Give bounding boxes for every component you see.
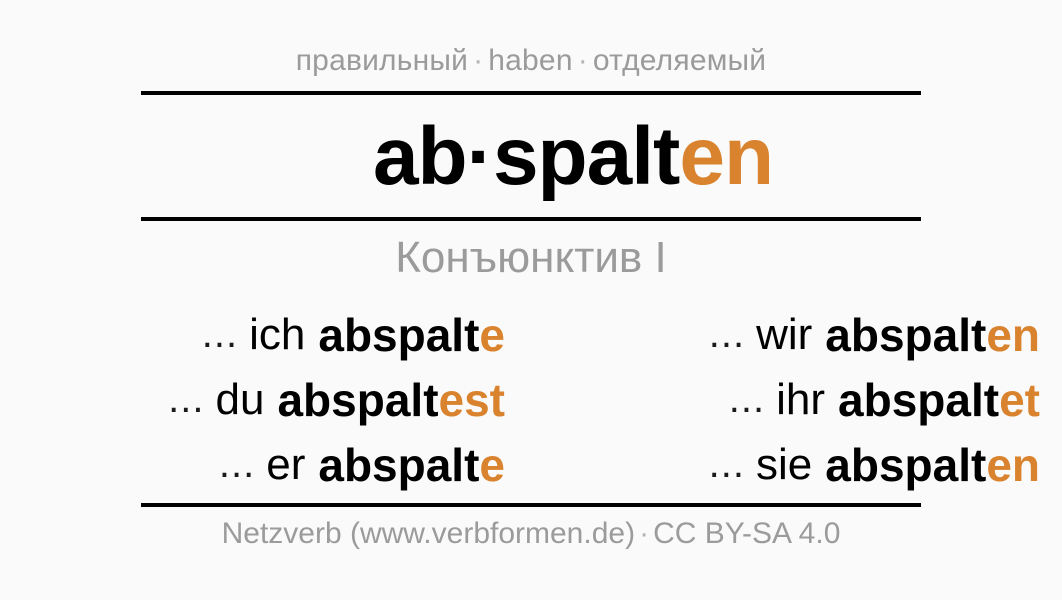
divider-bottom	[141, 503, 921, 507]
verb-regularity-label: правильный	[296, 44, 468, 77]
pronoun-label: du	[216, 375, 265, 425]
verb-auxiliary-label: haben	[488, 44, 572, 77]
verb-stem: abspalt	[277, 373, 438, 427]
verb-stem: abspalt	[318, 438, 479, 492]
conjugation-row: ...erabspalte	[0, 432, 527, 497]
footer-license: CC BY-SA 4.0	[653, 517, 840, 550]
meta-separator-2: ·	[573, 44, 593, 77]
conjugation-row: ...ihrabspaltet	[535, 367, 1062, 432]
verb-stem: abspalt	[838, 373, 999, 427]
pronoun-label: ich	[249, 310, 305, 360]
conjugation-row: ...ichabspalte	[0, 302, 527, 367]
verb-ending: e	[479, 438, 505, 492]
leading-dots: ...	[729, 377, 765, 422]
meta-separator-1: ·	[468, 44, 488, 77]
footer-credit: Netzverb (www.verbformen.de)·CC BY-SA 4.…	[0, 517, 1062, 551]
verb-ending: est	[439, 373, 505, 427]
divider-middle	[141, 217, 921, 221]
divider-top	[141, 91, 921, 95]
verb-ending: e	[479, 308, 505, 362]
verb-conjugation-card: правильный·haben·отделяемый ab·spalten К…	[0, 0, 1062, 600]
conjugation-table: ...ichabspalte ...wirabspalten ...duabsp…	[0, 302, 1062, 497]
verb-title-ending: en	[679, 111, 773, 202]
german-flag-icon	[289, 126, 355, 192]
leading-dots: ...	[709, 442, 745, 487]
pronoun-label: wir	[756, 310, 812, 360]
verb-stem: abspalt	[318, 308, 479, 362]
verb-ending: en	[986, 438, 1040, 492]
conjugation-row: ...duabspaltest	[0, 367, 527, 432]
verb-attributes-line: правильный·haben·отделяемый	[0, 44, 1062, 78]
page-title: ab·spalten	[373, 116, 773, 198]
leading-dots: ...	[709, 312, 745, 357]
verb-title-row: ab·spalten	[0, 108, 1062, 206]
tense-subtitle: Конъюнктив I	[0, 235, 1062, 281]
verb-separability-label: отделяемый	[593, 44, 766, 77]
verb-stem: abspalt	[825, 308, 986, 362]
verb-ending: en	[986, 308, 1040, 362]
leading-dots: ...	[202, 312, 238, 357]
leading-dots: ...	[168, 377, 204, 422]
verb-ending: et	[999, 373, 1040, 427]
pronoun-label: sie	[756, 440, 812, 490]
conjugation-row: ...wirabspalten	[535, 302, 1062, 367]
conjugation-row: ...sieabspalten	[535, 432, 1062, 497]
verb-title-stem: ab·spalt	[373, 111, 679, 202]
leading-dots: ...	[219, 442, 255, 487]
footer-separator: ·	[635, 517, 653, 550]
verb-stem: abspalt	[825, 438, 986, 492]
pronoun-label: er	[266, 440, 305, 490]
footer-source: Netzverb (www.verbformen.de)	[222, 517, 635, 550]
pronoun-label: ihr	[776, 375, 825, 425]
